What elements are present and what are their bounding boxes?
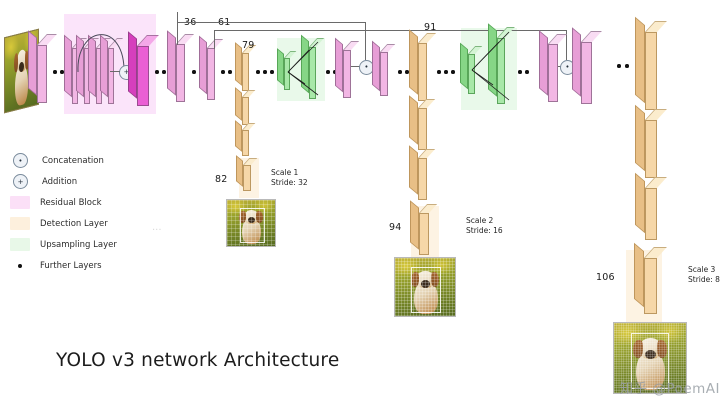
post-concat-layer-1 [380,52,388,96]
slab-face [645,32,657,110]
legend-label-concatenation: Concatenation [42,156,104,166]
upsample-fan-lines-2 [467,30,519,110]
layer-label-106: 106 [596,272,615,283]
residual-block-swatch-icon [10,196,30,209]
pre-concat-layer-1 [343,50,351,98]
further-layers-dot [398,70,402,74]
upsampling-layer-swatch-icon [10,238,30,251]
legend-label-detection-layer: Detection Layer [40,219,108,229]
further-layers-dot [263,70,267,74]
slab-face [645,120,657,178]
slab-top [380,44,395,52]
slab-top [37,34,57,45]
upsample-fan-lines-1 [283,40,328,102]
post-concat-layer-2 [581,42,592,104]
further-layers-dot [53,70,57,74]
detection-chain-106-slab [645,32,657,110]
layer-61-skip-vertical [214,30,215,49]
addition-icon-symbol: + [18,178,24,186]
slab-side [199,36,207,95]
connector-to-addition [110,71,120,72]
layer-label-91: 91 [424,22,437,33]
scale-3-label: Scale 3 Stride: 8 [688,265,720,284]
slab-side [235,42,242,86]
further-layers-dot [525,70,529,74]
diagram-canvas: + 36 61 79 [0,0,728,407]
dot-shape [18,264,22,268]
layer-61-slab [207,48,215,100]
slab-side [635,105,645,171]
slab-face [137,46,149,106]
layer-36-skip-line-horizontal [177,12,178,13]
slab-face [343,50,351,98]
slab-side [572,27,581,97]
residual-output-layer [137,46,149,106]
slab-top [645,109,667,120]
slab-top [418,33,436,43]
layer-82-slab [243,165,251,191]
layer-36-slab [176,44,185,102]
legend-label-upsampling-layer: Upsampling Layer [40,240,117,250]
further-layers-dot [192,70,196,74]
pre-concat-layer-2 [548,44,558,102]
slab-face [243,165,251,191]
further-layers-dot [270,70,274,74]
scale-3-stride: Stride: 8 [688,275,720,285]
legend-label-residual-block: Residual Block [40,198,102,208]
addition-icon: + [13,174,28,189]
further-layers-dot [437,70,441,74]
detection-chain-91-slab [418,108,427,150]
legend-item-addition: + Addition [10,171,185,192]
page-title: YOLO v3 network Architecture [56,350,339,371]
detection-chain-79-slab [242,97,249,125]
slab-face [418,43,427,101]
further-layers-dot [155,70,159,74]
slab-side [410,200,419,250]
slab-side [372,41,380,92]
detection-layer-swatch-icon [10,217,30,230]
slab-top [418,149,435,158]
detection-bounding-box [411,267,442,313]
slab-top [645,21,667,32]
slab-face [37,45,47,103]
further-layers-dot [444,70,448,74]
legend-label-further-layers: Further Layers [40,261,102,271]
layer-94-slab [419,213,429,255]
layer-label-82: 82 [215,174,228,185]
scale-2-name: Scale 2 [466,216,503,226]
slab-face [242,53,249,91]
layer-36-route-drop [365,22,366,60]
slab-side [409,29,418,95]
slab-face [645,188,657,240]
slab-side [335,38,343,93]
slab-face [176,44,185,102]
legend-item-detection-layer: Detection Layer [10,213,185,234]
detection-output-image-scale-2 [394,257,456,317]
slab-top [644,247,667,258]
watermark: 知乎 @PoemAI [620,377,720,397]
slab-side [635,17,645,103]
layer-label-94: 94 [389,222,402,233]
detection-chain-79-slab [242,130,249,156]
slab-top [176,34,194,44]
slab-face [418,108,427,150]
further-layers-dot [625,64,629,68]
slab-side [236,155,243,187]
detection-chain-106-slab [645,120,657,178]
slab-side [235,87,242,121]
further-layers-dot [518,70,522,74]
concatenation-symbol: • [364,64,368,71]
layer-91-slab [418,43,427,101]
layer-106-slab [644,258,657,314]
conv-layer-1 [37,45,47,103]
further-layers-dot [617,64,621,68]
legend-label-addition: Addition [42,177,77,187]
legend-item-upsampling-layer: Upsampling Layer [10,234,185,255]
scale-2-stride: Stride: 16 [466,226,503,236]
legend-item-residual-block: Residual Block [10,192,185,213]
slab-face [418,158,427,200]
further-layers-dot [221,70,225,74]
legend-item-further-layers: Further Layers [10,255,185,276]
further-layers-dot [228,70,232,74]
slab-face [242,130,249,156]
scale-1-label: Scale 1 Stride: 32 [271,168,308,187]
further-layers-dot-icon [10,264,30,268]
slab-side [409,95,418,145]
slab-side [539,30,548,96]
slab-side [235,120,242,152]
concatenation-icon-symbol: • [18,157,22,165]
slab-face [242,97,249,125]
further-layers-dot [256,70,260,74]
layer-79-slab [242,53,249,91]
slab-side [409,145,418,195]
detection-chain-106-slab [645,188,657,240]
slab-top [548,34,567,44]
further-layers-dot [162,70,166,74]
slab-face [207,48,215,100]
slab-face [548,44,558,102]
detection-bounding-box [240,208,264,243]
scale-3-name: Scale 3 [688,265,720,275]
layer-36-skip-line-vertical [177,12,178,45]
further-layers-dot [451,70,455,74]
slab-top [343,41,359,50]
slab-face [644,258,657,314]
slab-side [635,173,645,233]
further-layers-dot [326,70,330,74]
slab-top [581,31,602,42]
slab-side [634,243,644,307]
slab-face [380,52,388,96]
layer-label-79: 79 [242,40,255,51]
scale-1-name: Scale 1 [271,168,308,178]
slab-top [242,90,255,97]
legend-item-concatenation: • Concatenation [10,150,185,171]
slab-side [167,30,176,96]
slab-side [128,31,137,99]
detection-output-image-scale-1 [226,199,276,247]
scale-1-stride: Stride: 32 [271,178,308,188]
slab-top [645,177,667,188]
layer-36-route-horizontal [177,22,366,23]
slab-face [419,213,429,255]
slab-face [581,42,592,104]
legend: • Concatenation + Addition Residual Bloc… [10,150,185,276]
scale-2-label: Scale 2 Stride: 16 [466,216,503,235]
slab-top [207,39,223,48]
detection-chain-91-slab [418,158,427,200]
concatenation-icon: • [13,153,28,168]
concatenation-symbol: • [565,64,569,71]
slab-side [28,30,37,96]
